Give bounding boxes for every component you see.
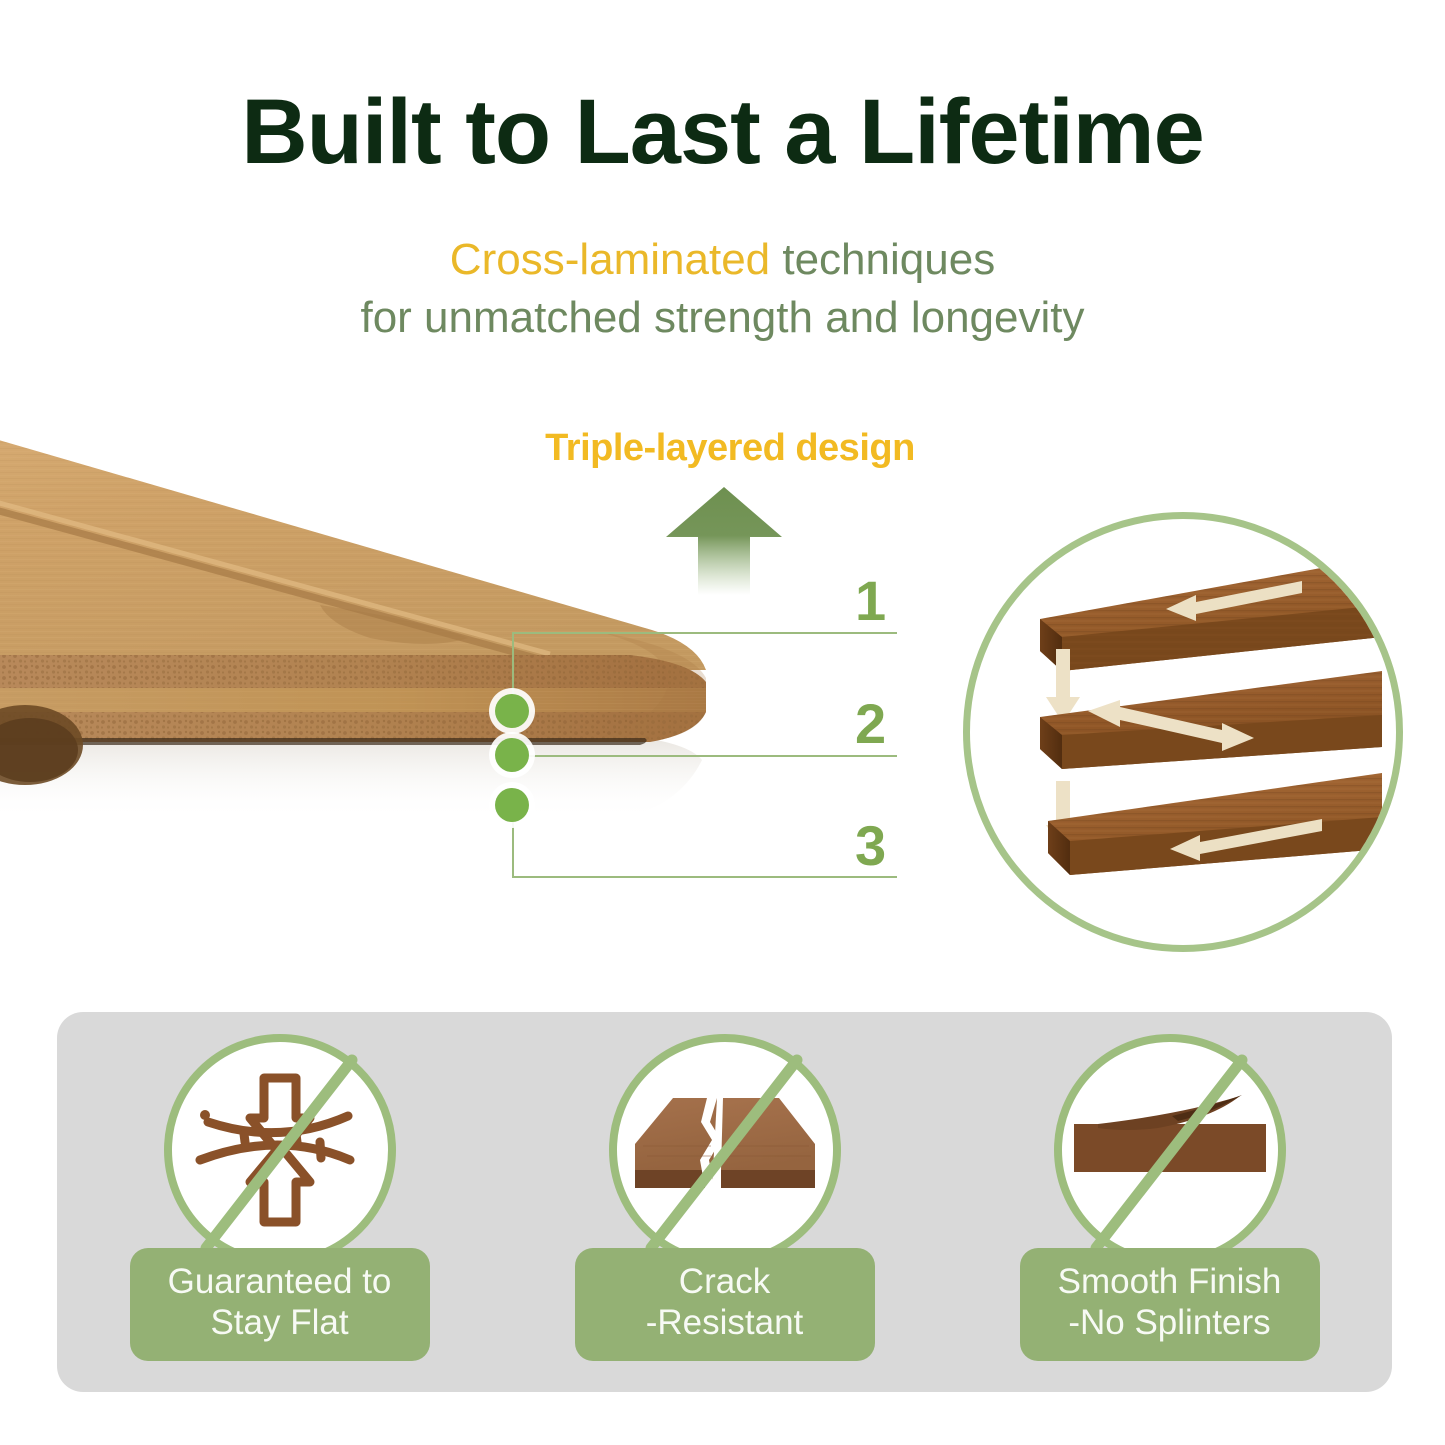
feature-label-line-1: Crack — [679, 1262, 770, 1301]
subtitle-accent: Cross-laminated — [450, 235, 770, 284]
subtitle-line-1: Cross-laminated techniques — [0, 238, 1445, 282]
feature-label-line-1: Smooth Finish — [1058, 1262, 1282, 1301]
page-title: Built to Last a Lifetime — [0, 86, 1445, 178]
callout-dot-2 — [495, 738, 529, 772]
layer-slab-bottom — [1048, 773, 1382, 875]
callout-dot-1 — [495, 694, 529, 728]
feature-badge-label: Smooth Finish-No Splinters — [1020, 1248, 1320, 1361]
subtitle-rest: techniques — [770, 235, 995, 284]
callout-number-2: 2 — [855, 696, 886, 752]
callout-number-3: 3 — [855, 818, 886, 874]
callout-number-1: 1 — [855, 573, 886, 629]
feature-badge-label: Crack-Resistant — [575, 1248, 875, 1361]
feature-label-line-2: -Resistant — [646, 1303, 804, 1342]
feature-badge-crack-resistant[interactable]: Crack-Resistant — [545, 1012, 905, 1372]
feature-badge-smooth-finish[interactable]: Smooth Finish-No Splinters — [990, 1012, 1350, 1372]
cracked-board-icon — [609, 1034, 841, 1266]
cross-laminated-layers-inset — [963, 512, 1403, 952]
splinter-board-illustration — [1062, 1042, 1278, 1258]
callout-dot-3 — [495, 788, 529, 822]
layer-slab-top — [1040, 557, 1382, 671]
feature-label-line-1: Guaranteed to — [168, 1262, 392, 1301]
feature-badge-stay-flat[interactable]: Guaranteed toStay Flat — [100, 1012, 460, 1372]
exploded-layers-illustration — [970, 519, 1382, 931]
cracked-board-illustration — [617, 1042, 833, 1258]
bamboo-cutting-board-photo — [0, 400, 790, 900]
warp-arrows-illustration — [172, 1042, 388, 1258]
layer-slab-middle — [1040, 671, 1382, 769]
callout-leader-3 — [512, 876, 897, 878]
feature-badge-label: Guaranteed toStay Flat — [130, 1248, 430, 1361]
subtitle-line-2: for unmatched strength and longevity — [0, 296, 1445, 340]
infographic-page: Built to Last a Lifetime Cross-laminated… — [0, 0, 1445, 1445]
callout-leader-1 — [512, 632, 897, 634]
feature-label-line-2: -No Splinters — [1068, 1303, 1270, 1342]
stay-flat-no-warp-icon — [164, 1034, 396, 1266]
callout-leader-2 — [512, 755, 897, 757]
splinter-board-icon — [1054, 1034, 1286, 1266]
feature-badge-row: Guaranteed toStay Flat — [57, 1012, 1392, 1392]
feature-label-line-2: Stay Flat — [210, 1303, 348, 1342]
